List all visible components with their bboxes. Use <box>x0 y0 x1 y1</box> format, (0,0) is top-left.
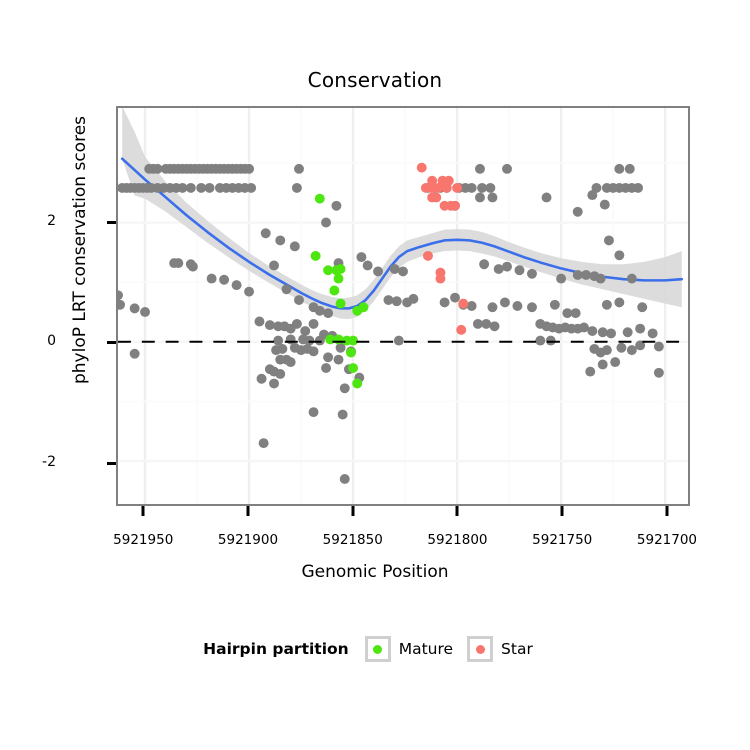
data-point[interactable] <box>390 264 400 274</box>
y-axis-title: phyloP LRT conservation scores <box>70 50 90 450</box>
y-tick-label: -2 <box>42 454 56 470</box>
data-point[interactable] <box>261 228 271 238</box>
data-point[interactable] <box>383 295 393 305</box>
data-point[interactable] <box>323 352 333 362</box>
data-point[interactable] <box>487 302 497 312</box>
series-other <box>118 164 664 484</box>
data-point[interactable] <box>246 183 256 193</box>
data-point[interactable] <box>546 336 556 346</box>
data-point[interactable] <box>254 317 264 327</box>
data-point[interactable] <box>140 307 150 317</box>
data-point[interactable] <box>336 264 346 274</box>
data-point[interactable] <box>440 297 450 307</box>
data-point[interactable] <box>604 235 614 245</box>
data-point[interactable] <box>535 336 545 346</box>
x-tick-label: 5921850 <box>323 532 383 548</box>
data-point[interactable] <box>542 193 552 203</box>
data-point[interactable] <box>394 336 404 346</box>
data-point[interactable] <box>587 190 597 200</box>
data-point[interactable] <box>467 183 477 193</box>
data-point[interactable] <box>311 251 321 261</box>
data-point[interactable] <box>627 345 637 355</box>
y-tick-mark <box>107 221 116 224</box>
data-point[interactable] <box>442 183 452 193</box>
data-point[interactable] <box>257 374 267 384</box>
data-point[interactable] <box>363 260 373 270</box>
data-point[interactable] <box>614 250 624 260</box>
x-tick-mark <box>561 506 564 516</box>
data-point[interactable] <box>627 274 637 284</box>
data-point[interactable] <box>309 346 319 356</box>
data-point[interactable] <box>571 308 581 318</box>
data-point[interactable] <box>596 274 606 284</box>
x-tick-mark <box>456 506 459 516</box>
data-point[interactable] <box>130 349 140 359</box>
data-point[interactable] <box>431 193 441 203</box>
data-point[interactable] <box>292 319 302 329</box>
data-point[interactable] <box>269 260 279 270</box>
data-point[interactable] <box>232 280 242 290</box>
data-point[interactable] <box>340 383 350 393</box>
data-point[interactable] <box>398 266 408 276</box>
data-point[interactable] <box>614 164 624 174</box>
data-point[interactable] <box>290 241 300 251</box>
data-point[interactable] <box>458 299 468 309</box>
data-point[interactable] <box>331 201 341 211</box>
legend: Hairpin partition MatureStar <box>0 636 750 662</box>
x-tick-mark <box>665 506 668 516</box>
data-point[interactable] <box>452 183 462 193</box>
x-tick-label: 5921950 <box>113 532 173 548</box>
data-point[interactable] <box>334 355 344 365</box>
data-point[interactable] <box>479 259 489 269</box>
data-point[interactable] <box>392 296 402 306</box>
x-tick-label: 5921900 <box>218 532 278 548</box>
legend-entry-star[interactable]: Star <box>467 636 533 662</box>
x-tick-label: 5921700 <box>637 532 697 548</box>
legend-entry-mature[interactable]: Mature <box>365 636 453 662</box>
data-point[interactable] <box>271 345 281 355</box>
data-point[interactable] <box>315 336 325 346</box>
data-point[interactable] <box>600 200 610 210</box>
data-point[interactable] <box>325 334 335 344</box>
y-tick-label: 2 <box>47 213 56 229</box>
data-point[interactable] <box>654 342 664 352</box>
data-point[interactable] <box>282 284 292 294</box>
data-point[interactable] <box>485 183 495 193</box>
conservation-scatter-figure: Conservation phyloP LRT conservation sco… <box>0 0 750 750</box>
data-point[interactable] <box>527 302 537 312</box>
legend-swatch-dot <box>373 645 382 654</box>
data-point[interactable] <box>602 300 612 310</box>
data-point[interactable] <box>475 164 485 174</box>
data-point[interactable] <box>323 308 333 318</box>
data-point[interactable] <box>207 274 217 284</box>
legend-entries: MatureStar <box>365 636 547 662</box>
data-point[interactable] <box>294 164 304 174</box>
data-point[interactable] <box>435 274 445 284</box>
data-point[interactable] <box>616 343 626 353</box>
data-point[interactable] <box>610 357 620 367</box>
data-point[interactable] <box>338 410 348 420</box>
data-point[interactable] <box>490 321 500 331</box>
data-point[interactable] <box>512 301 522 311</box>
data-point[interactable] <box>300 326 310 336</box>
data-point[interactable] <box>336 299 346 309</box>
legend-swatch-dot <box>476 645 485 654</box>
data-point[interactable] <box>118 300 125 310</box>
data-point[interactable] <box>456 325 466 335</box>
data-point[interactable] <box>602 345 612 355</box>
plot-canvas <box>118 108 688 504</box>
loess-confidence-band <box>122 108 682 319</box>
data-point[interactable] <box>648 328 658 338</box>
data-point[interactable] <box>315 194 325 204</box>
mature-legend-key <box>365 636 391 662</box>
data-point[interactable] <box>219 275 229 285</box>
data-point[interactable] <box>587 326 597 336</box>
data-point[interactable] <box>598 327 608 337</box>
data-point[interactable] <box>348 363 358 373</box>
data-point[interactable] <box>450 201 460 211</box>
data-point[interactable] <box>329 286 339 296</box>
data-point[interactable] <box>373 266 383 276</box>
x-tick-mark <box>351 506 354 516</box>
data-point[interactable] <box>359 302 369 312</box>
data-point[interactable] <box>481 319 491 329</box>
data-point[interactable] <box>515 265 525 275</box>
data-point[interactable] <box>346 348 356 358</box>
data-point[interactable] <box>294 295 304 305</box>
plot-panel <box>116 106 690 506</box>
x-tick-mark <box>142 506 145 516</box>
data-point[interactable] <box>304 336 314 346</box>
data-point[interactable] <box>356 252 366 262</box>
data-point[interactable] <box>487 193 497 203</box>
data-point[interactable] <box>423 251 433 261</box>
data-point[interactable] <box>309 319 319 329</box>
data-point[interactable] <box>654 368 664 378</box>
data-point[interactable] <box>623 327 633 337</box>
data-point[interactable] <box>269 379 279 389</box>
data-point[interactable] <box>573 207 583 217</box>
data-point[interactable] <box>502 164 512 174</box>
data-point[interactable] <box>315 306 325 316</box>
data-point[interactable] <box>625 164 635 174</box>
data-point[interactable] <box>265 320 275 330</box>
data-point[interactable] <box>244 164 254 174</box>
data-point[interactable] <box>527 269 537 279</box>
data-point[interactable] <box>348 336 358 346</box>
data-point[interactable] <box>417 163 427 173</box>
data-point[interactable] <box>309 407 319 417</box>
data-point[interactable] <box>637 302 647 312</box>
data-point[interactable] <box>321 218 331 228</box>
data-point[interactable] <box>244 287 254 297</box>
data-point[interactable] <box>275 235 285 245</box>
x-tick-mark <box>246 506 249 516</box>
data-point[interactable] <box>205 183 215 193</box>
legend-label: Mature <box>399 640 453 658</box>
data-point[interactable] <box>286 357 296 367</box>
data-point[interactable] <box>450 293 460 303</box>
data-point[interactable] <box>292 183 302 193</box>
data-point[interactable] <box>556 274 566 284</box>
data-point[interactable] <box>467 301 477 311</box>
data-point[interactable] <box>259 438 269 448</box>
data-point[interactable] <box>186 183 196 193</box>
page-title: Conservation <box>0 68 750 92</box>
data-point[interactable] <box>352 379 362 389</box>
data-point[interactable] <box>188 262 198 272</box>
data-point[interactable] <box>598 359 608 369</box>
legend-title: Hairpin partition <box>203 640 349 658</box>
data-point[interactable] <box>500 297 510 307</box>
data-point[interactable] <box>130 303 140 313</box>
data-point[interactable] <box>275 369 285 379</box>
star-legend-key <box>467 636 493 662</box>
data-point[interactable] <box>118 290 123 300</box>
data-point[interactable] <box>321 363 331 373</box>
x-tick-label: 5921750 <box>532 532 592 548</box>
data-point[interactable] <box>475 193 485 203</box>
data-point[interactable] <box>408 294 418 304</box>
y-tick-mark <box>107 462 116 465</box>
data-point[interactable] <box>614 297 624 307</box>
data-point[interactable] <box>550 300 560 310</box>
y-tick-mark <box>107 341 116 344</box>
data-point[interactable] <box>581 270 591 280</box>
x-axis-title: Genomic Position <box>0 562 750 582</box>
data-point[interactable] <box>585 367 595 377</box>
legend-label: Star <box>501 640 533 658</box>
data-point[interactable] <box>334 274 344 284</box>
data-point[interactable] <box>173 258 183 268</box>
data-point[interactable] <box>633 183 643 193</box>
data-point[interactable] <box>502 262 512 272</box>
y-tick-label: 0 <box>47 333 56 349</box>
data-point[interactable] <box>494 264 504 274</box>
data-point[interactable] <box>340 474 350 484</box>
data-point[interactable] <box>635 324 645 334</box>
x-tick-label: 5921800 <box>427 532 487 548</box>
data-point[interactable] <box>606 328 616 338</box>
